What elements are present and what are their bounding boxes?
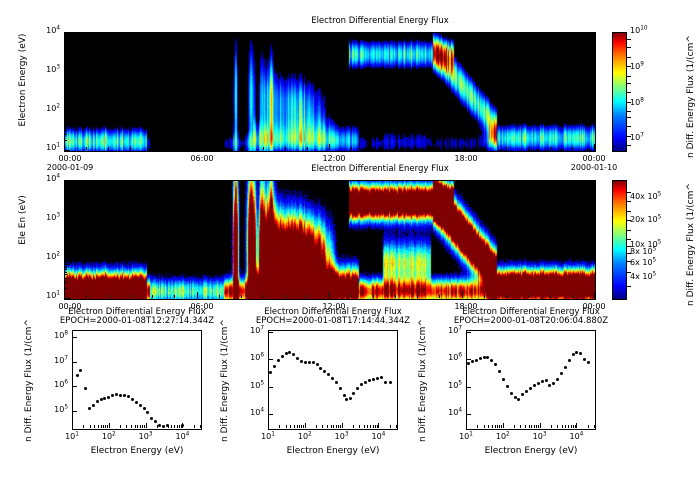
panel2-colorbar[interactable]	[612, 180, 627, 300]
ytick-label: 10	[46, 252, 56, 261]
spectrogram-ytick	[64, 230, 70, 231]
data-point	[123, 394, 126, 397]
colorbar-tick	[626, 239, 631, 240]
spectrum-ytick-mark	[466, 414, 471, 415]
data-point	[380, 376, 383, 379]
spectrum-xtick-minor	[520, 425, 521, 428]
spectrogram-xtick	[307, 147, 308, 150]
data-point	[146, 411, 149, 414]
spectrogram-xtick	[329, 292, 330, 298]
data-point	[281, 355, 284, 358]
spectrum-xtick-minor	[514, 425, 515, 428]
spectrogram-xtick	[307, 295, 308, 298]
ytick-exp: 1	[56, 142, 60, 148]
data-point	[467, 362, 470, 365]
spectrum-xtick: 103	[324, 432, 360, 441]
spectrogram-ytick	[64, 90, 67, 91]
data-point	[331, 377, 334, 380]
cbar-tick-label: 40x 10	[630, 192, 658, 201]
data-point	[498, 370, 501, 373]
spectrum-plot[interactable]	[72, 330, 202, 430]
spectrum-xtick-minor	[557, 425, 558, 428]
cbar-tick-label: 20x 10	[630, 215, 658, 224]
data-point	[529, 387, 532, 390]
spectrum-ytick: 106	[430, 353, 462, 362]
spectrum-xtick-mark	[378, 423, 379, 428]
spectrogram-ytick	[64, 100, 67, 101]
spectrogram-xtick	[550, 147, 551, 150]
colorbar-tick	[626, 126, 631, 127]
spectrum-xtick-minor	[194, 425, 195, 428]
spectrogram-xtick	[395, 295, 396, 298]
data-point	[312, 361, 315, 364]
spectrum-xtick-minor	[294, 425, 295, 428]
spectrogram-ytick	[64, 58, 67, 59]
spectrum-plot[interactable]	[466, 330, 596, 430]
cbar-tick-label: 10	[630, 98, 640, 107]
cbar-tick-label: 10	[630, 62, 640, 71]
panel1-ylabel: Electron Energy (eV)	[18, 20, 28, 140]
spectrum-xtick-minor	[529, 425, 530, 428]
data-point	[139, 404, 142, 407]
data-point	[143, 407, 146, 410]
spectrogram-xtick	[550, 295, 551, 298]
spectrum-xtick-minor	[575, 425, 576, 428]
spectrogram-xtick	[417, 147, 418, 150]
spectrogram-xtick	[462, 292, 463, 298]
spectrum-xtick-minor	[83, 425, 84, 428]
data-point	[502, 378, 505, 381]
spectrum-xtick-minor	[142, 425, 143, 428]
spectrum-xtick-minor	[588, 425, 589, 428]
data-point	[285, 352, 288, 355]
spectrogram-ytick	[64, 53, 67, 54]
spectrum-xtick-mark	[466, 423, 467, 428]
data-point	[352, 392, 355, 395]
data-point	[158, 424, 161, 427]
data-point	[494, 363, 497, 366]
spectrogram-ytick	[64, 119, 67, 120]
spectrogram-ytick	[64, 244, 67, 245]
colorbar-tick	[626, 286, 631, 287]
spectrum-xtick-minor	[565, 425, 566, 428]
data-point	[335, 381, 338, 384]
spectrum-ytick-mark	[268, 387, 273, 388]
panel1-colorbar[interactable]	[612, 32, 627, 152]
spectrogram-ytick	[64, 288, 67, 289]
spectrogram-ytick	[64, 264, 70, 265]
spectrogram-ytick	[64, 92, 67, 93]
data-point	[506, 385, 509, 388]
colorbar-tick	[626, 220, 631, 221]
data-point	[96, 400, 99, 403]
spectrogram-xtick	[219, 295, 220, 298]
spectrogram-ytick	[64, 150, 70, 151]
spectrum-ytick: 105	[430, 381, 462, 390]
data-point	[525, 390, 528, 393]
colorbar-tick	[626, 145, 631, 146]
spectrogram-ytick	[64, 272, 67, 273]
spectrogram-ytick	[64, 134, 67, 135]
data-point	[389, 381, 392, 384]
spectrum-xtick-mark	[146, 423, 147, 428]
spectrum-ytick: 105	[232, 381, 264, 390]
spectrum-xtick-minor	[101, 425, 102, 428]
cbar-tick-label: 10	[630, 133, 640, 142]
spectrum-xtick-minor	[98, 425, 99, 428]
data-point	[521, 393, 524, 396]
spectrum-xtick-minor	[168, 425, 169, 428]
spectrogram-ytick	[64, 206, 67, 207]
spectrum-xtick: 103	[128, 432, 164, 441]
spectrum-xtick: 104	[360, 432, 396, 441]
spectrogram-xtick	[439, 147, 440, 150]
data-point	[319, 367, 322, 370]
ytick-label: 10	[46, 65, 56, 74]
data-point	[327, 373, 330, 376]
spectrogram-xtick	[241, 147, 242, 150]
data-point	[150, 417, 153, 420]
spectrogram-xtick	[417, 295, 418, 298]
spectrum-xtick-minor	[497, 425, 498, 428]
spectrogram-xtick	[395, 147, 396, 150]
spectrum-xtick-minor	[120, 425, 121, 428]
spectrum-ytick: 107	[430, 326, 462, 335]
spectrum-xtick-mark	[268, 423, 269, 428]
spectrum-xtick-minor	[179, 425, 180, 428]
spectrogram-xtick	[197, 144, 198, 150]
spectrogram-ytick	[64, 278, 67, 279]
data-point	[127, 395, 130, 398]
xtick-label: 00:00	[40, 154, 100, 163]
spectrogram-xtick	[351, 147, 352, 150]
colorbar-tick	[626, 253, 631, 254]
spectrogram-ytick	[64, 210, 67, 211]
spectrogram-ytick	[64, 124, 67, 125]
data-point	[277, 359, 280, 362]
spectrum-xtick-minor	[525, 425, 526, 428]
spectrogram-ytick	[64, 201, 67, 202]
panel2-ylabel: Ele En (eV)	[18, 165, 28, 275]
cbar-tick-exp: 5	[658, 214, 662, 220]
data-point	[490, 359, 493, 362]
data-point	[300, 360, 303, 363]
data-point	[349, 397, 352, 400]
spectrum-xtick-minor	[105, 425, 106, 428]
spectrum-xtick-minor	[594, 425, 595, 428]
spectrum-xtick-minor	[157, 425, 158, 428]
data-point	[296, 357, 299, 360]
spectrogram-ytick	[64, 199, 67, 200]
spectrogram-ytick	[64, 232, 67, 233]
spectrogram-xtick	[506, 295, 507, 298]
spectrum-xtick: 102	[287, 432, 323, 441]
spectrum-plot[interactable]	[268, 330, 398, 430]
spectrum-xtick-minor	[181, 425, 182, 428]
spectrogram-xtick	[572, 147, 573, 150]
spectrum-xtick-minor	[144, 425, 145, 428]
spectrum-xtick-minor	[163, 425, 164, 428]
colorbar-tick	[626, 246, 631, 247]
spectrogram-xtick	[263, 147, 264, 150]
data-point	[548, 384, 551, 387]
cbar-tick-exp: 7	[640, 132, 644, 138]
spectrogram-ytick	[64, 48, 70, 49]
spectrum-ytick-mark	[72, 386, 77, 387]
panel1-title: Electron Differential Energy Flux	[165, 16, 595, 26]
spectrogram-xtick	[528, 295, 529, 298]
spectrogram-ytick	[64, 282, 67, 283]
panel1-canvas	[65, 33, 595, 151]
spectrum-xtick-minor	[333, 425, 334, 428]
spectrum-xtick-minor	[495, 425, 496, 428]
data-point	[288, 351, 291, 354]
spectrum-xtick-minor	[375, 425, 376, 428]
spectrum-ytick: 107	[36, 356, 68, 365]
spectrum-ytick: 107	[232, 326, 264, 335]
spectrogram-ytick	[64, 116, 70, 117]
panel2-canvas	[65, 181, 595, 299]
spectrum-xtick-minor	[297, 425, 298, 428]
colorbar-tick	[626, 57, 631, 58]
data-point	[486, 356, 489, 359]
spectrogram-ytick	[64, 82, 70, 83]
spectrum-xtick-mark	[305, 423, 306, 428]
spectrum-xtick-minor	[370, 425, 371, 428]
spectrogram-ytick	[64, 87, 67, 88]
spectrogram-ytick	[64, 269, 67, 270]
spectrum-xtick-minor	[140, 425, 141, 428]
spectrum-ytick-mark	[72, 362, 77, 363]
cbar-tick-exp: 5	[653, 271, 657, 277]
data-point	[471, 360, 474, 363]
data-point	[115, 393, 118, 396]
data-point	[568, 359, 571, 362]
spectrogram-xtick	[484, 147, 485, 150]
spectrum-ylabel: n Diff. Energy Flux (1/(cm^	[220, 282, 230, 442]
colorbar-tick	[626, 201, 631, 202]
spectrogram-ytick	[64, 254, 67, 255]
spectrum-xtick-mark	[576, 423, 577, 428]
colorbar-tick	[626, 92, 631, 93]
spectrogram-ytick	[64, 238, 67, 239]
spectrum-xtick-minor	[279, 425, 280, 428]
spectrum-xtick-mark	[342, 423, 343, 428]
ytick-label: 10	[46, 104, 56, 113]
data-point	[564, 366, 567, 369]
spectrum-xtick-minor	[131, 425, 132, 428]
spectrogram-xtick	[197, 292, 198, 298]
cbar-tick-exp: 5	[653, 246, 657, 252]
colorbar-tick	[626, 76, 631, 77]
spectrogram-ytick	[64, 84, 67, 85]
data-point	[323, 370, 326, 373]
spectrum-xtick-minor	[135, 425, 136, 428]
spectrum-xtick-minor	[107, 425, 108, 428]
data-point	[356, 387, 359, 390]
cbar-tick-exp: 5	[658, 239, 662, 245]
spectrogram-xtick	[439, 295, 440, 298]
colorbar-tick	[626, 83, 631, 84]
spectrum-xtick-minor	[171, 425, 172, 428]
spectrogram-ytick	[64, 196, 70, 197]
spectrum-xtick-minor	[536, 425, 537, 428]
spectrum-xtick-minor	[303, 425, 304, 428]
spectrum-xtick-minor	[359, 425, 360, 428]
spectrogram-ytick	[64, 66, 67, 67]
ytick-exp: 1	[56, 290, 60, 296]
spectrum-ytick-mark	[72, 411, 77, 412]
spectrum-xtick-minor	[396, 425, 397, 428]
spectrogram-ytick	[64, 51, 67, 52]
spectrum-xtick-minor	[538, 425, 539, 428]
ytick-exp: 4	[56, 173, 60, 179]
panel1-spectrogram[interactable]	[64, 32, 596, 152]
data-point	[76, 374, 79, 377]
spectrum-xtick: 103	[522, 432, 558, 441]
spectrogram-xtick	[462, 144, 463, 150]
spectrum-xtick-minor	[377, 425, 378, 428]
spectrum-xtick: 104	[558, 432, 594, 441]
colorbar-tick	[626, 117, 631, 118]
spectrogram-xtick	[594, 292, 595, 298]
data-point	[304, 361, 307, 364]
spectrum-xtick-minor	[338, 425, 339, 428]
data-point	[364, 381, 367, 384]
spectrogram-ytick	[64, 140, 67, 141]
cbar-tick-exp: 8	[640, 97, 644, 103]
spectrogram-xtick	[506, 147, 507, 150]
ytick-label: 10	[46, 174, 56, 183]
spectrogram-ytick	[64, 198, 67, 199]
panel2-spectrogram[interactable]	[64, 180, 596, 300]
spectrum-ytick-mark	[72, 337, 77, 338]
spectrum-xtick-minor	[177, 425, 178, 428]
data-point	[368, 379, 371, 382]
spectrogram-xtick	[329, 144, 330, 150]
spectrogram-xtick	[152, 295, 153, 298]
spectrum-ytick: 106	[36, 380, 68, 389]
spectrum-ytick-mark	[268, 359, 273, 360]
spectrum-xtick-minor	[137, 425, 138, 428]
spectrogram-ytick	[64, 298, 70, 299]
spectrum-epoch: EPOCH=2000-01-08T20:06:04.880Z	[406, 316, 656, 326]
spectrogram-ytick	[64, 85, 67, 86]
data-point	[510, 392, 513, 395]
colorbar-tick	[626, 102, 631, 103]
spectrogram-ytick	[64, 274, 67, 275]
spectrum-xtick-minor	[301, 425, 302, 428]
data-point	[545, 379, 548, 382]
ytick-exp: 4	[56, 25, 60, 31]
spectrogram-ytick	[64, 214, 67, 215]
colorbar-tick	[626, 272, 631, 273]
spectrum-xtick-minor	[571, 425, 572, 428]
cbar-tick-exp: 10	[640, 25, 647, 31]
colorbar-tick	[626, 192, 631, 193]
spectrogram-ytick	[64, 233, 67, 234]
spectrogram-ytick	[64, 248, 67, 249]
spectrum-xtick: 101	[54, 432, 90, 441]
data-point	[560, 372, 563, 375]
spectrogram-xtick	[594, 144, 595, 150]
spectrogram-xtick	[174, 147, 175, 150]
spectrum-ylabel: n Diff. Energy Flux (1/(cm^	[418, 282, 428, 442]
spectrum-xtick-minor	[484, 425, 485, 428]
spectrum-xtick-mark	[540, 423, 541, 428]
spectrogram-xtick	[263, 295, 264, 298]
spectrum-xtick-minor	[316, 425, 317, 428]
xtick-label: 00:00	[564, 154, 624, 163]
spectrogram-xtick	[373, 147, 374, 150]
data-point	[556, 378, 559, 381]
spectrum-xtick-minor	[364, 425, 365, 428]
data-point	[154, 420, 157, 423]
colorbar-tick	[626, 39, 631, 40]
spectrogram-xtick	[285, 147, 286, 150]
data-point	[273, 365, 276, 368]
spectrum-xtick-minor	[501, 425, 502, 428]
spectrum-xtick-minor	[492, 425, 493, 428]
spectrum-xtick-minor	[573, 425, 574, 428]
xtick-label: 06:00	[172, 154, 232, 163]
data-point	[316, 363, 319, 366]
spectrum-ytick-mark	[268, 414, 273, 415]
spectrogram-xtick	[86, 295, 87, 298]
spectrogram-ytick	[64, 56, 67, 57]
data-point	[537, 382, 540, 385]
ytick-exp: 3	[56, 64, 60, 70]
spectrogram-ytick	[64, 235, 67, 236]
data-point	[100, 398, 103, 401]
spectrogram-xtick	[174, 295, 175, 298]
spectrum-xtick-minor	[322, 425, 323, 428]
data-point	[345, 398, 348, 401]
spectrum-xtick-minor	[286, 425, 287, 428]
ytick-exp: 3	[56, 212, 60, 218]
ytick-exp: 2	[56, 251, 60, 257]
colorbar-tick	[626, 136, 631, 137]
data-point	[343, 394, 346, 397]
spectrogram-xtick	[285, 295, 286, 298]
panel2-colorbar-label: n Diff. Energy Flux (1/(cm^	[686, 156, 696, 306]
data-point	[360, 383, 363, 386]
spectrum-xtick-minor	[568, 425, 569, 428]
data-point	[575, 351, 578, 354]
data-point	[372, 378, 375, 381]
spectrum-ytick: 104	[232, 408, 264, 417]
spectrogram-ytick	[64, 240, 67, 241]
colorbar-tick	[626, 66, 631, 67]
spectrogram-xtick	[130, 295, 131, 298]
spectrogram-xtick	[351, 295, 352, 298]
spectrum-ytick: 106	[232, 353, 264, 362]
data-point	[475, 359, 478, 362]
spectrogram-ytick	[64, 62, 67, 63]
spectrum-xtick-mark	[72, 423, 73, 428]
spectrum-ytick-mark	[466, 359, 471, 360]
spectrum-xtick-minor	[499, 425, 500, 428]
spectrum-xtick-mark	[109, 423, 110, 428]
spectrum-ytick: 105	[36, 405, 68, 414]
data-point	[579, 352, 582, 355]
colorbar-tick	[626, 211, 631, 212]
spectrogram-ytick	[64, 204, 67, 205]
spectrogram-ytick	[64, 186, 67, 187]
data-point	[339, 387, 342, 390]
spectrogram-ytick	[64, 32, 67, 33]
colorbar-tick	[626, 261, 631, 262]
